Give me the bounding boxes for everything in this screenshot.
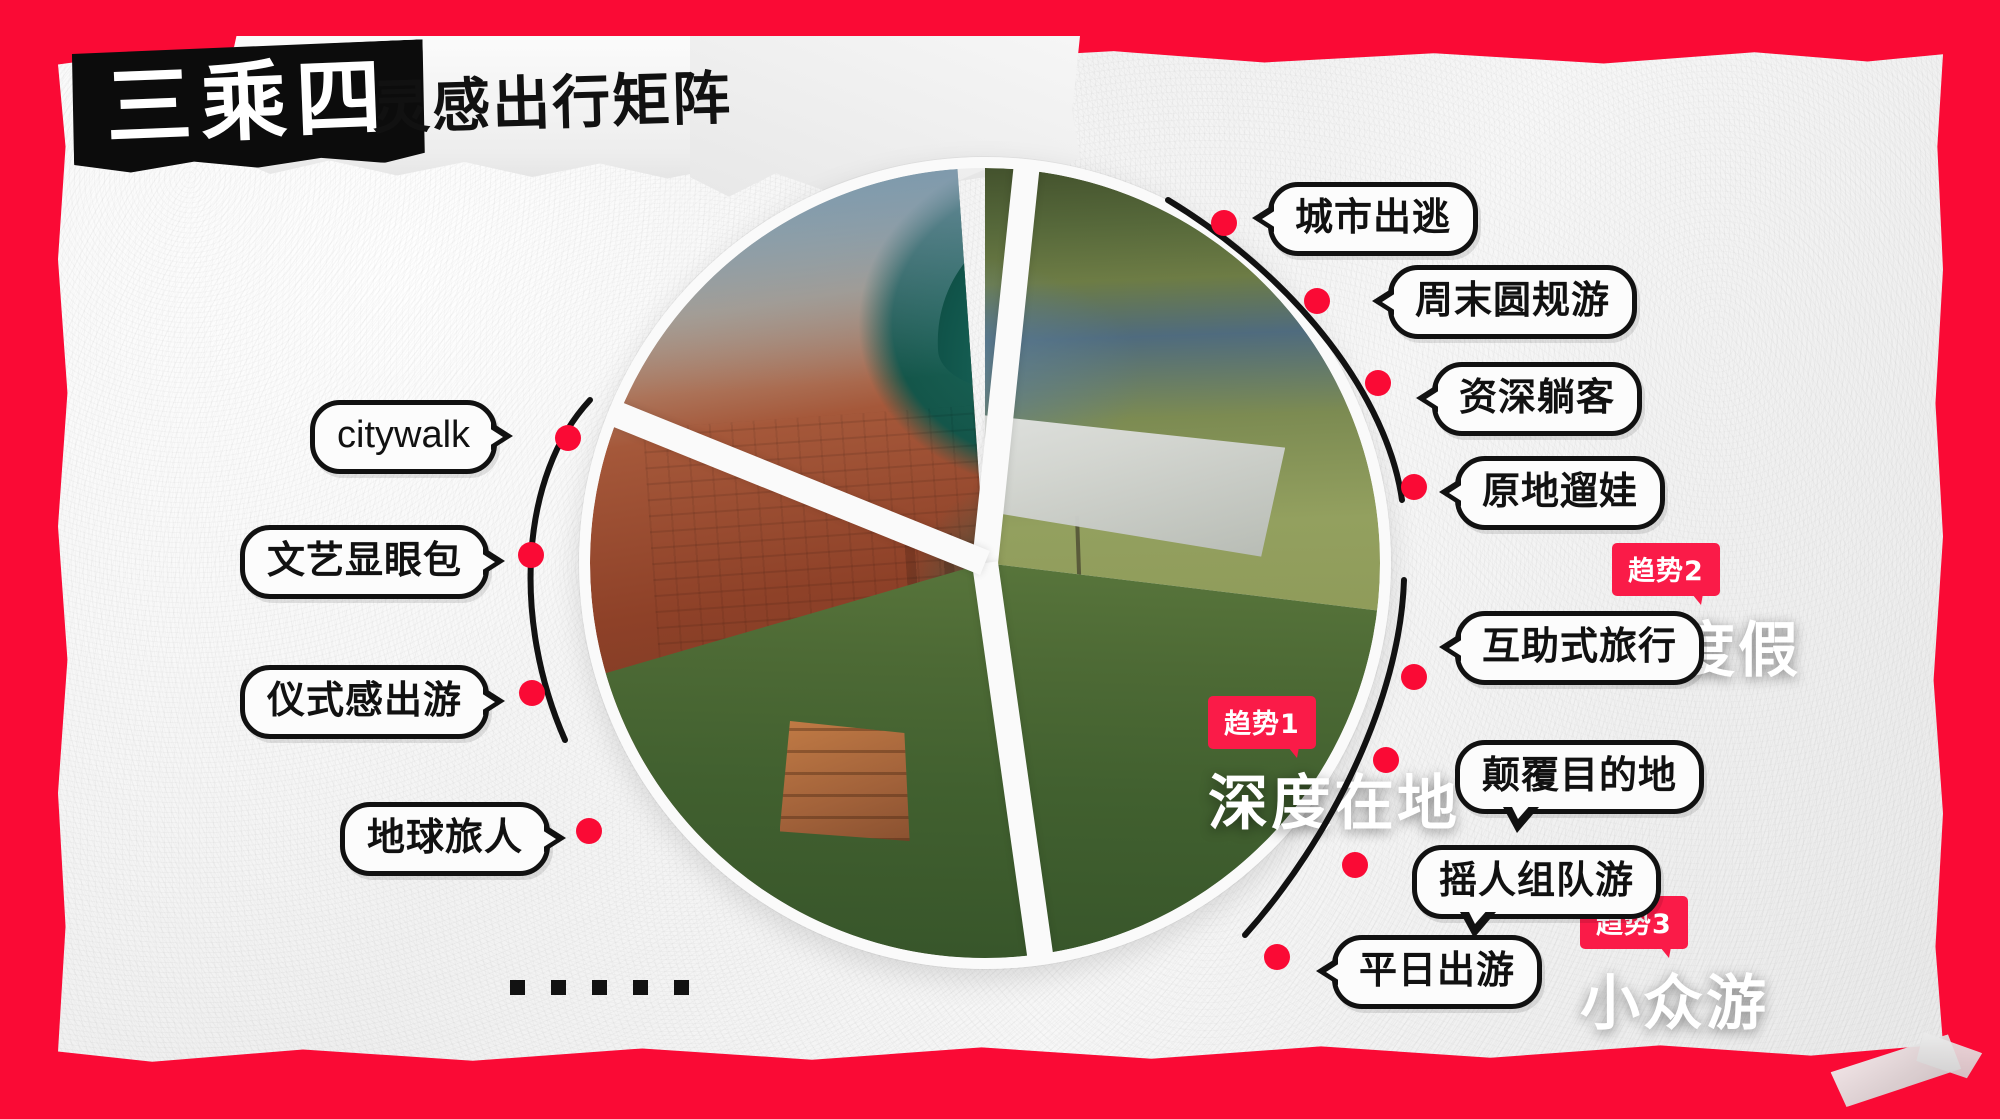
- arc-dot-left-2: [518, 542, 544, 568]
- arc-dot-left-3: [519, 680, 545, 706]
- ellipsis-square: [592, 980, 607, 995]
- callout-label: citywalk: [337, 414, 470, 456]
- callout-平日出游[interactable]: 平日出游: [1332, 935, 1542, 1009]
- callout-label: 平日出游: [1359, 948, 1515, 992]
- arc-dot-right-8: [1264, 944, 1290, 970]
- arc-dot-right-3: [1365, 370, 1391, 396]
- arc-dot-left-1: [555, 425, 581, 451]
- callout-label: 摇人组队游: [1439, 858, 1634, 902]
- callout-citywalk[interactable]: citywalk: [310, 400, 497, 474]
- ellipsis-square: [633, 980, 648, 995]
- callout-label: 互助式旅行: [1482, 624, 1677, 668]
- ellipsis-square: [551, 980, 566, 995]
- callout-label: 原地遛娃: [1482, 469, 1638, 513]
- callout-地球旅人[interactable]: 地球旅人: [340, 802, 550, 876]
- callout-原地遛娃[interactable]: 原地遛娃: [1455, 456, 1665, 530]
- arc-dot-left-4: [576, 818, 602, 844]
- ellipsis-square: [674, 980, 689, 995]
- callout-仪式感出游[interactable]: 仪式感出游: [240, 665, 489, 739]
- arc-dot-right-1: [1211, 210, 1237, 236]
- arc-dot-right-6: [1373, 747, 1399, 773]
- ellipsis-square: [510, 980, 525, 995]
- callout-label: 文艺显眼包: [267, 538, 462, 582]
- callout-label: 地球旅人: [367, 815, 523, 859]
- callout-周末圆规游[interactable]: 周末圆规游: [1388, 265, 1637, 339]
- callout-颠覆目的地[interactable]: 颠覆目的地: [1455, 740, 1704, 814]
- callout-label: 城市出逃: [1295, 195, 1451, 239]
- arc-dot-right-7: [1342, 852, 1368, 878]
- arc-dot-right-5: [1401, 664, 1427, 690]
- callout-label: 仪式感出游: [267, 678, 462, 722]
- callout-资深躺客[interactable]: 资深躺客: [1432, 362, 1642, 436]
- callout-文艺显眼包[interactable]: 文艺显眼包: [240, 525, 489, 599]
- arc-dot-right-2: [1304, 288, 1330, 314]
- callout-label: 周末圆规游: [1415, 278, 1610, 322]
- callout-城市出逃[interactable]: 城市出逃: [1268, 182, 1478, 256]
- callout-label: 资深躺客: [1459, 375, 1615, 419]
- arc-dot-right-4: [1401, 474, 1427, 500]
- callout-互助式旅行[interactable]: 互助式旅行: [1455, 611, 1704, 685]
- poster-canvas: 三乘四 灵感出行矩阵: [0, 0, 2000, 1119]
- callout-摇人组队游[interactable]: 摇人组队游: [1412, 845, 1661, 919]
- callout-label: 颠覆目的地: [1482, 753, 1677, 797]
- ellipsis-decoration: [510, 980, 689, 995]
